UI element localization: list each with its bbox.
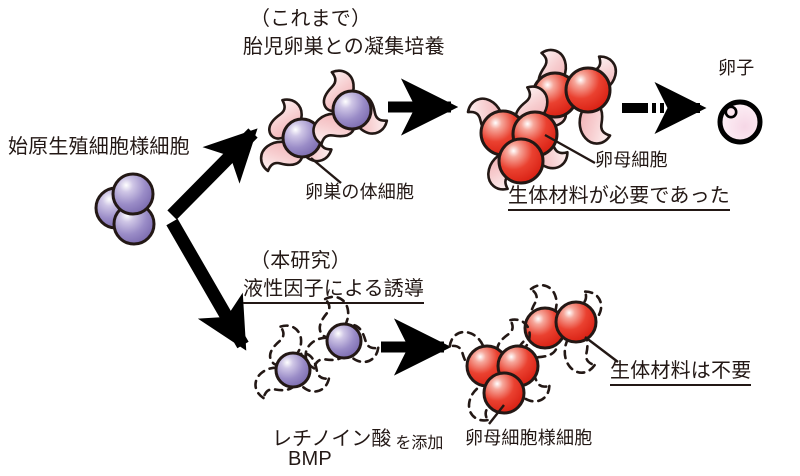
top-conclusion: 生体材料が必要であった xyxy=(508,185,730,211)
egg-label: 卵子 xyxy=(718,58,754,79)
germ-cell-cluster-source xyxy=(96,174,154,244)
factor-suffix: を添加 xyxy=(395,429,443,453)
factor-bmp: BMP xyxy=(288,448,332,472)
oocyte-like-cluster-group xyxy=(447,285,608,424)
oocyte-5 xyxy=(499,139,543,183)
germ-cell-b xyxy=(333,91,371,129)
leader-line-oocyte-like xyxy=(585,337,618,362)
source-label: 始原生殖細胞様細胞 xyxy=(8,136,190,160)
oocyte-like-2 xyxy=(556,302,596,342)
germ-cell-d xyxy=(327,324,361,358)
oocyte-label: 卵母細胞 xyxy=(595,150,668,171)
bottom-conclusion: 生体材料は不要 xyxy=(610,360,751,386)
oocyte-2 xyxy=(566,68,610,112)
factor-retinoic-acid: レチノイン酸 xyxy=(272,422,391,451)
bottom-heading-paren: （本研究） xyxy=(250,250,351,274)
leader-line-somatic xyxy=(311,158,341,183)
top-heading-main: 胎児卵巣との凝集培養 xyxy=(243,36,445,60)
egg-cell xyxy=(720,102,760,142)
oocyte-like-5 xyxy=(484,373,524,413)
aggregate-culture-group xyxy=(258,68,390,172)
bottom-heading-main: 液性因子による誘導 xyxy=(243,278,424,304)
top-heading-paren: （これまで） xyxy=(250,8,371,32)
liquid-factor-group xyxy=(251,295,381,400)
diagram-graphics xyxy=(0,0,800,476)
oocyte-like-label: 卵母細胞様細胞 xyxy=(465,428,592,449)
diagram-canvas: 始原生殖細胞様細胞 （これまで） 胎児卵巣との凝集培養 卵巣の体細胞 卵母細胞 … xyxy=(0,0,800,476)
somatic-cell-label: 卵巣の体細胞 xyxy=(305,182,414,203)
branch-arrow-lower xyxy=(172,222,243,345)
added-factors-row: レチノイン酸 を添加 xyxy=(272,422,443,451)
